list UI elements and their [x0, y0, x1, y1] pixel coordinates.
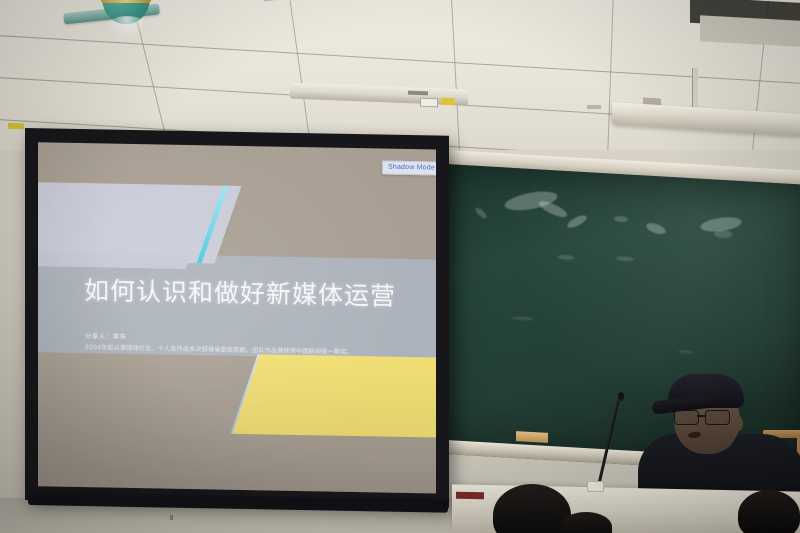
fan-light-glow [106, 16, 148, 38]
classroom-photo-scene: 如何认识和做好新媒体运营 分享人：李东 2004年起从事媒体行业，个人及作品多次… [0, 0, 800, 533]
projector-screen: 如何认识和做好新媒体运营 分享人：李东 2004年起从事媒体行业，个人及作品多次… [25, 128, 449, 508]
ceiling-fan [60, 0, 240, 62]
slide-presenter-line: 分享人：李东 [85, 330, 126, 341]
roller-white-tag [420, 98, 438, 108]
podium-red-label [456, 492, 484, 500]
wall-shadow [0, 498, 452, 533]
wall-mark [170, 515, 173, 520]
roller-brand-label [408, 91, 428, 96]
podium-device [587, 481, 604, 492]
shadow-mode-badge: Shadow Mode [382, 161, 436, 176]
speaker-glasses [674, 410, 736, 423]
slide-lavender-shape-lower [38, 252, 190, 269]
projected-slide: 如何认识和做好新媒体运营 分享人：李东 2004年起从事媒体行业，个人及作品多次… [38, 142, 436, 493]
fan-gold-band [101, 0, 151, 3]
microphone-head [618, 392, 624, 401]
slide-yellow-shape [232, 354, 436, 438]
chalk-box [516, 431, 548, 443]
wall-fitting [587, 105, 601, 109]
ceiling-recess-tile-inner [700, 15, 800, 47]
audience-head [738, 490, 800, 533]
roller-yellow-tag [441, 98, 455, 106]
slide-title: 如何认识和做好新媒体运营 [84, 271, 396, 313]
wall-mount-hook [8, 123, 24, 130]
